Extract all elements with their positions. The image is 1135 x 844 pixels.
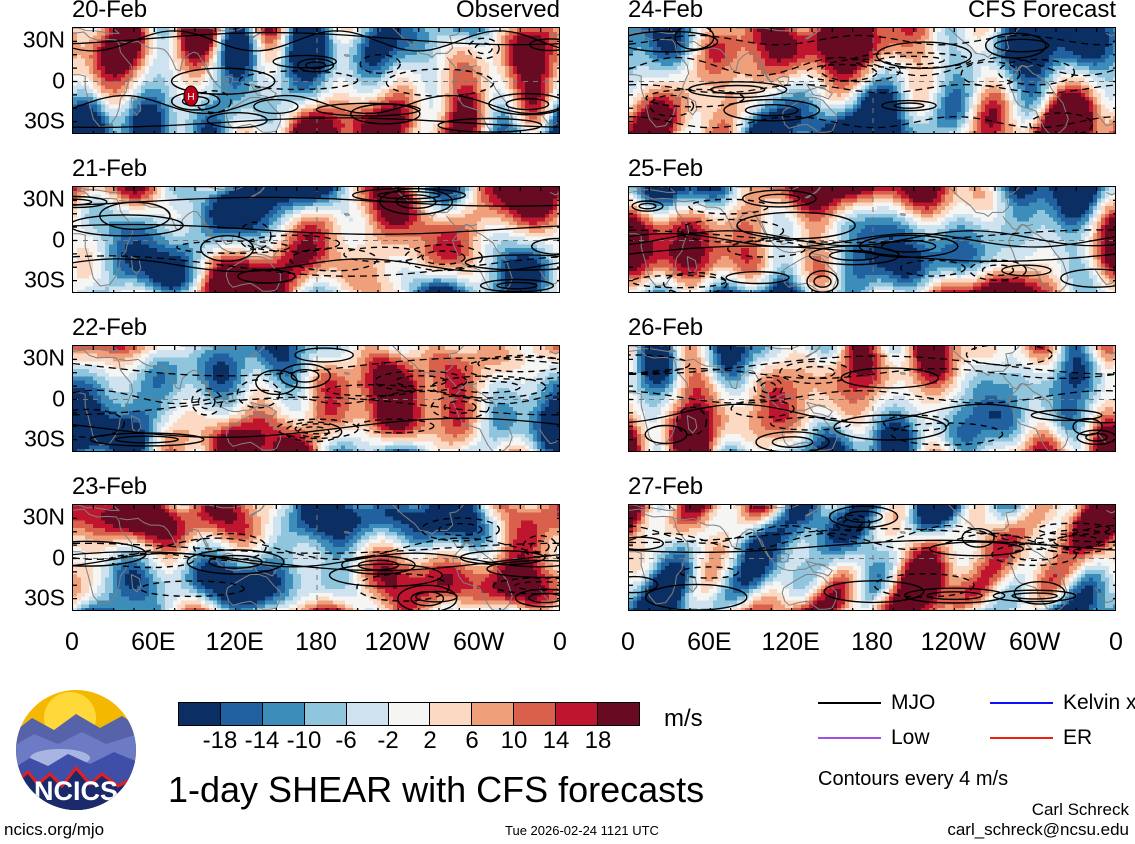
map-panel: 22-Feb30N030S [72, 318, 560, 452]
x-axis-tick-label: 0 [1109, 628, 1123, 656]
logo-text: NCICS [34, 776, 118, 806]
panel-date-label: 24-Feb [628, 0, 703, 22]
footer-email: carl_schreck@ncsu.edu [947, 820, 1129, 839]
panel-date-label: 25-Feb [628, 157, 703, 181]
map-panel: 26-Feb [628, 318, 1116, 452]
legend-entry: MJO [818, 690, 935, 716]
colorbar-tick-label: 2 [423, 727, 436, 754]
map-panel: 25-Feb [628, 159, 1116, 293]
panel-date-label: 23-Feb [72, 475, 147, 499]
colorbar-tick-label: -10 [287, 727, 322, 754]
contour-interval-note: Contours every 4 m/s [818, 768, 1008, 790]
panel-date-label: 22-Feb [72, 316, 147, 340]
colorbar-tick-label: 14 [543, 727, 570, 754]
column-header: Observed [456, 0, 560, 22]
colorbar-bin [263, 703, 305, 725]
x-axis-tick-label: 60W [453, 628, 504, 656]
panel-date-label: 27-Feb [628, 475, 703, 499]
legend-entry: Kelvin x2 [990, 690, 1135, 716]
panel-grid: 20-FebObservedH30N030S21-Feb30N030S22-Fe… [0, 0, 1135, 628]
y-axis-tick-label: 30N [23, 188, 65, 211]
legend-line-swatch [818, 702, 881, 704]
map-canvas [628, 345, 1116, 452]
map-canvas [628, 186, 1116, 293]
colorbar-tick-labels: -18-14-10-6-226101418 [178, 727, 640, 755]
x-axis-tick-label: 0 [65, 628, 79, 656]
legend-entry: ER [990, 725, 1092, 751]
colorbar-tick-label: -18 [203, 727, 238, 754]
y-axis-tick-label: 30N [23, 506, 65, 529]
x-axis-tick-label: 120E [205, 628, 263, 656]
colorbar-bin [598, 703, 639, 725]
colorbar: -18-14-10-6-226101418 [178, 702, 640, 726]
map-panel: 27-Feb [628, 477, 1116, 611]
x-axis: 060E120E180120W60W0 [628, 628, 1116, 658]
y-axis-tick-label: 0 [52, 546, 65, 569]
colorbar-bin [221, 703, 263, 725]
colorbar-tick-label: 6 [465, 727, 478, 754]
legend-entry: Low [818, 725, 930, 751]
y-axis-tick-label: 0 [52, 69, 65, 92]
legend-label: Kelvin x2 [1063, 692, 1135, 714]
x-axis-tick-label: 120W [921, 628, 986, 656]
colorbar-tick-label: 10 [501, 727, 528, 754]
x-axis-tick-label: 0 [553, 628, 567, 656]
colorbar-bin [179, 703, 221, 725]
map-panel: 23-Feb30N030S [72, 477, 560, 611]
column-header: CFS Forecast [968, 0, 1116, 22]
colorbar-bin [389, 703, 431, 725]
x-axis-tick-label: 120E [761, 628, 819, 656]
map-canvas [72, 504, 560, 611]
y-axis-tick-label: 30N [23, 29, 65, 52]
footer-timestamp: Tue 2026-02-24 1121 UTC [505, 823, 659, 838]
colorbar-bin [472, 703, 514, 725]
map-panel: 21-Feb30N030S [72, 159, 560, 293]
x-axis: 060E120E180120W60W0 [72, 628, 560, 658]
y-axis-tick-label: 30S [24, 427, 65, 450]
y-axis-tick-label: 30S [24, 268, 65, 291]
colorbar-bin [430, 703, 472, 725]
footer-website: ncics.org/mjo [4, 820, 104, 839]
map-canvas [72, 186, 560, 293]
map-canvas [628, 27, 1116, 134]
x-axis-tick-label: 60E [687, 628, 731, 656]
colorbar-bin [514, 703, 556, 725]
legend-line-swatch [990, 702, 1053, 704]
legend-label: Low [891, 727, 930, 749]
legend-label: ER [1063, 727, 1092, 749]
map-canvas: H [72, 27, 560, 134]
footer-author: Carl Schreck [1032, 800, 1129, 819]
y-axis-tick-label: 30S [24, 109, 65, 132]
colorbar-bin [305, 703, 347, 725]
colorbar-tick-label: 18 [585, 727, 612, 754]
y-axis-tick-label: 0 [52, 228, 65, 251]
colorbar-swatches [178, 702, 640, 726]
x-axis-tick-label: 0 [621, 628, 635, 656]
colorbar-tick-label: -14 [245, 727, 280, 754]
cyclone-marker: H [184, 86, 198, 106]
legend-label: MJO [891, 692, 935, 714]
map-panel: 20-FebObservedH30N030S [72, 0, 560, 134]
y-axis-tick-label: 0 [52, 387, 65, 410]
map-canvas [72, 345, 560, 452]
legend-line-swatch [990, 737, 1053, 739]
y-axis-tick-label: 30N [23, 347, 65, 370]
panel-date-label: 21-Feb [72, 157, 147, 181]
colorbar-bin [556, 703, 598, 725]
panel-date-label: 26-Feb [628, 316, 703, 340]
main-title: 1-day SHEAR with CFS forecasts [168, 770, 704, 810]
x-axis-tick-label: 120W [365, 628, 430, 656]
x-axis-tick-label: 180 [851, 628, 893, 656]
x-axis-tick-label: 60E [131, 628, 175, 656]
colorbar-tick-label: -6 [335, 727, 356, 754]
map-canvas [628, 504, 1116, 611]
x-axis-tick-label: 60W [1009, 628, 1060, 656]
y-axis-tick-label: 30S [24, 586, 65, 609]
colorbar-unit-label: m/s [664, 706, 703, 732]
colorbar-tick-label: -2 [377, 727, 398, 754]
x-axis-tick-label: 180 [295, 628, 337, 656]
ncics-logo: NCICS [14, 688, 138, 812]
colorbar-bin [347, 703, 389, 725]
panel-date-label: 20-Feb [72, 0, 147, 22]
wave-legend: MJOKelvin x2LowER [818, 690, 1128, 760]
svg-text:H: H [187, 92, 194, 103]
map-panel: 24-FebCFS Forecast [628, 0, 1116, 134]
legend-line-swatch [818, 737, 881, 739]
